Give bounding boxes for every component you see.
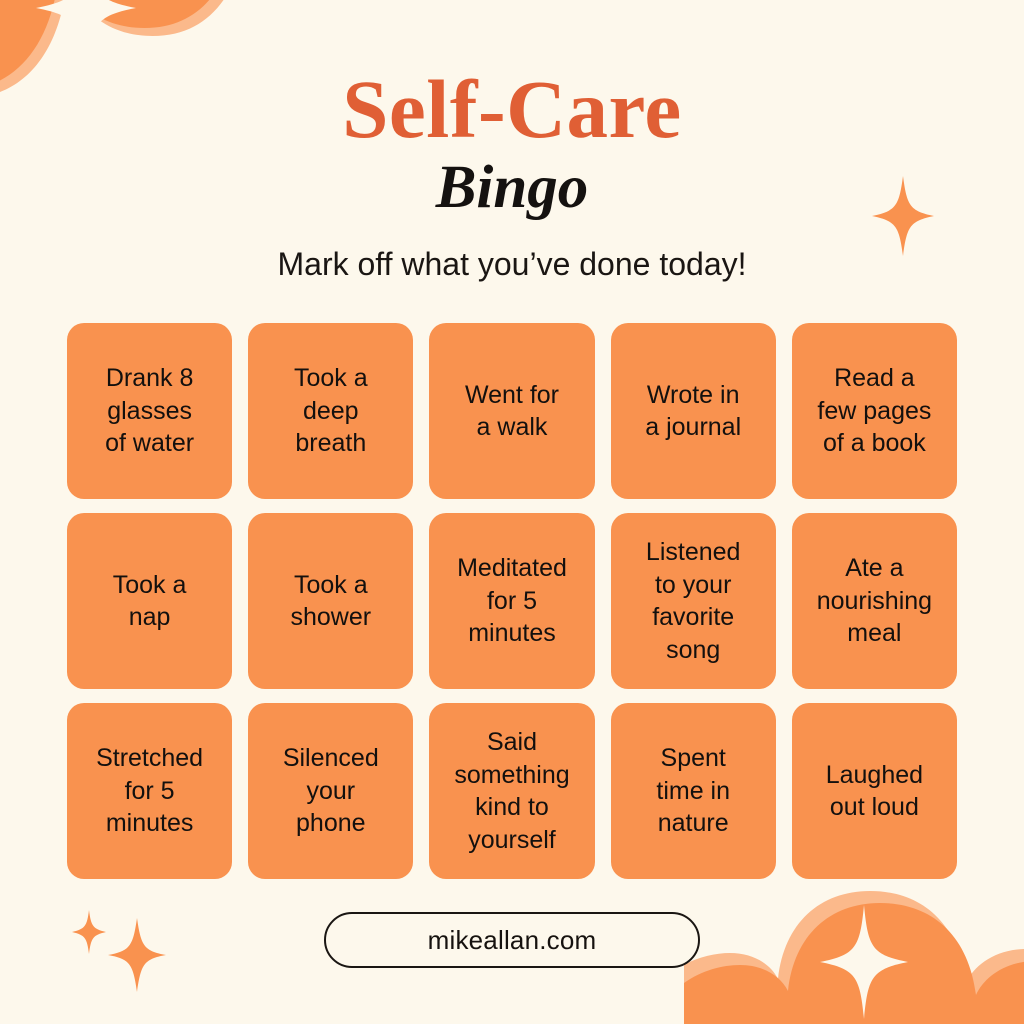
bingo-tile[interactable]: Took a shower	[248, 513, 413, 689]
bingo-tile[interactable]: Went for a walk	[429, 323, 594, 499]
website-pill[interactable]: mikeallan.com	[324, 912, 700, 968]
bingo-tile[interactable]: Listened to your favorite song	[611, 513, 776, 689]
sparkle-icon	[108, 918, 166, 992]
tagline-text: Mark off what you’ve done today!	[0, 218, 1024, 280]
sparkle-icon	[72, 910, 106, 954]
bingo-tile-label: Took a deep breath	[294, 362, 368, 460]
bingo-tile-label: Meditated for 5 minutes	[457, 552, 567, 650]
poster-canvas: Self-Care Bingo Mark off what you’ve don…	[0, 0, 1024, 1024]
bingo-tile[interactable]: Silenced your phone	[248, 703, 413, 879]
bingo-tile-label: Took a shower	[290, 569, 371, 634]
bingo-tile[interactable]: Stretched for 5 minutes	[67, 703, 232, 879]
bingo-tile-label: Listened to your favorite song	[646, 536, 741, 666]
bingo-tile-label: Went for a walk	[465, 379, 559, 444]
page-title: Self-Care	[0, 0, 1024, 151]
bingo-tile[interactable]: Spent time in nature	[611, 703, 776, 879]
bingo-tile-label: Silenced your phone	[283, 742, 379, 840]
bingo-tile[interactable]: Meditated for 5 minutes	[429, 513, 594, 689]
bingo-tile-label: Wrote in a journal	[645, 379, 741, 444]
sparkle-icon	[820, 905, 908, 1019]
bingo-tile-label: Said something kind to yourself	[454, 726, 569, 856]
website-label: mikeallan.com	[428, 925, 597, 956]
bingo-tile-label: Laughed out loud	[826, 759, 923, 824]
bingo-tile-label: Stretched for 5 minutes	[96, 742, 203, 840]
sparkle-bottom-left-large	[108, 918, 166, 997]
bingo-tile[interactable]: Said something kind to yourself	[429, 703, 594, 879]
bingo-tile-label: Ate a nourishing meal	[817, 552, 932, 650]
bingo-tile-label: Took a nap	[113, 569, 187, 634]
bingo-tile-label: Read a few pages of a book	[817, 362, 931, 460]
bingo-tile[interactable]: Took a deep breath	[248, 323, 413, 499]
bingo-tile-label: Drank 8 glasses of water	[105, 362, 194, 460]
bingo-tile[interactable]: Took a nap	[67, 513, 232, 689]
bingo-tile[interactable]: Read a few pages of a book	[792, 323, 957, 499]
poster-header: Self-Care Bingo Mark off what you’ve don…	[0, 0, 1024, 280]
bingo-tile[interactable]: Ate a nourishing meal	[792, 513, 957, 689]
bingo-tile[interactable]: Laughed out loud	[792, 703, 957, 879]
bingo-tile-label: Spent time in nature	[656, 742, 730, 840]
cloud-bottom-right	[684, 869, 1024, 1024]
sparkle-bottom-left-small	[72, 910, 106, 959]
page-subtitle: Bingo	[0, 151, 1024, 218]
bingo-tile[interactable]: Wrote in a journal	[611, 323, 776, 499]
bingo-grid: Drank 8 glasses of waterTook a deep brea…	[67, 323, 957, 879]
bingo-tile[interactable]: Drank 8 glasses of water	[67, 323, 232, 499]
cloud-icon	[684, 891, 1024, 1024]
